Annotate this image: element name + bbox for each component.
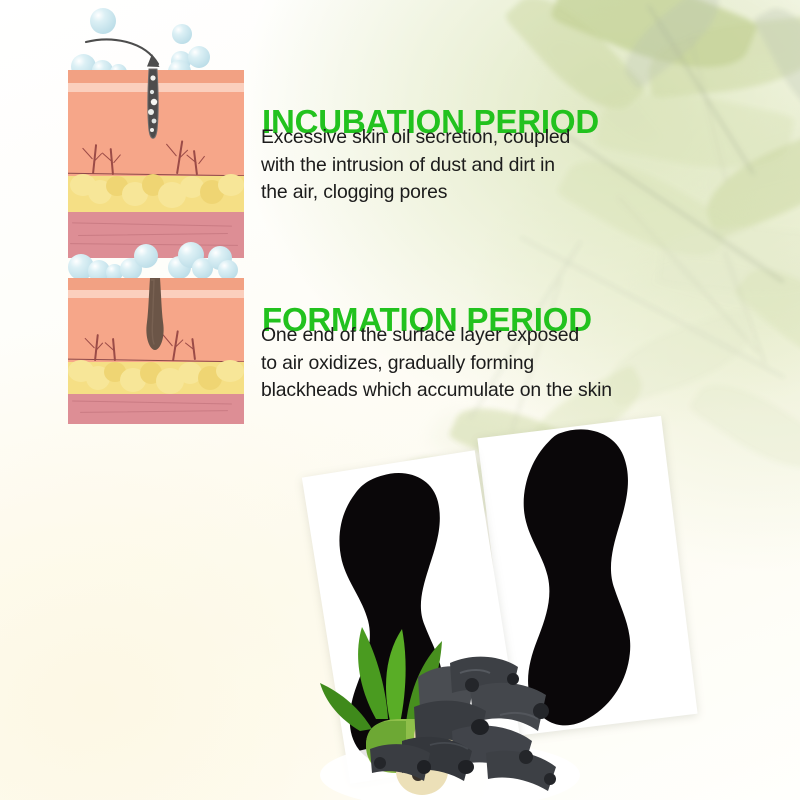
clogged-pore: [140, 68, 166, 150]
fat-blob: [218, 174, 244, 196]
bamboo-charcoal: [310, 615, 580, 800]
bubble: [134, 244, 158, 268]
muscle-layer: [68, 394, 244, 424]
body-line: the air, clogging pores: [261, 179, 661, 207]
bubble: [218, 260, 238, 280]
bubble: [90, 8, 116, 34]
body-line: to air oxidizes, gradually forming: [261, 350, 711, 378]
diagram-incubation: [68, 2, 244, 260]
product-photo: [300, 410, 800, 800]
fat-blob: [216, 360, 244, 382]
infographic-page: INCUBATION PERIOD Excessive skin oil sec…: [0, 0, 800, 800]
bubble: [188, 46, 210, 68]
diagram-formation: [68, 232, 244, 424]
body-line: One end of the surface layer exposed: [261, 322, 711, 350]
blackhead-plug: [138, 276, 172, 362]
body-line: with the intrusion of dust and dirt in: [261, 152, 661, 180]
body-line: Excessive skin oil secretion, coupled: [261, 124, 661, 152]
body-line: blackheads which accumulate on the skin: [261, 377, 711, 405]
body-formation: One end of the surface layer exposed to …: [261, 322, 711, 405]
body-incubation: Excessive skin oil secretion, coupled wi…: [261, 124, 661, 207]
